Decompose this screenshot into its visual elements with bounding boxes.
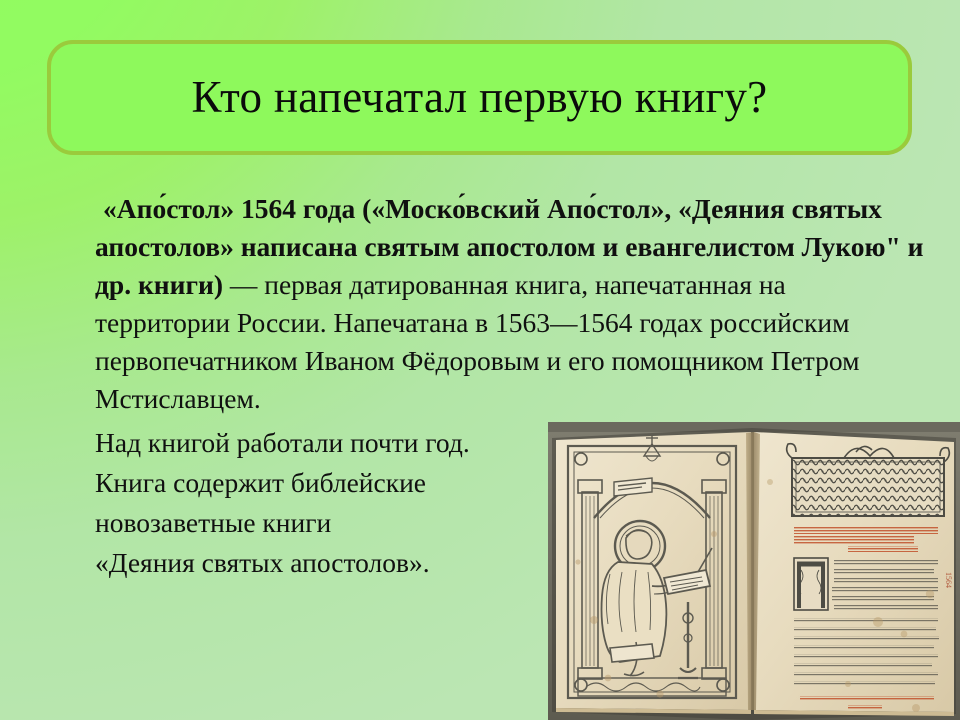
drop-cap	[794, 558, 828, 610]
paragraph-main: «Апо́стол» 1564 года («Моско́вский Апо́с…	[95, 190, 925, 418]
svg-text:1564: 1564	[944, 572, 953, 588]
paragraph-5: «Деяния святых апостолов».	[95, 544, 565, 582]
slide: Кто напечатал первую книгу? «Апо́стол» 1…	[0, 0, 960, 720]
paragraph-2: Над книгой работали почти год.	[95, 424, 565, 462]
page-title: Кто напечатал первую книгу?	[192, 74, 768, 121]
paragraph-4: новозаветные книги	[95, 504, 565, 542]
apostol-book-illustration: 1564	[548, 422, 960, 720]
apostol-book-photo: 1564	[548, 422, 960, 720]
paragraph-3: Книга содержит библейские	[95, 464, 565, 502]
title-box: Кто напечатал первую книгу?	[47, 40, 912, 155]
